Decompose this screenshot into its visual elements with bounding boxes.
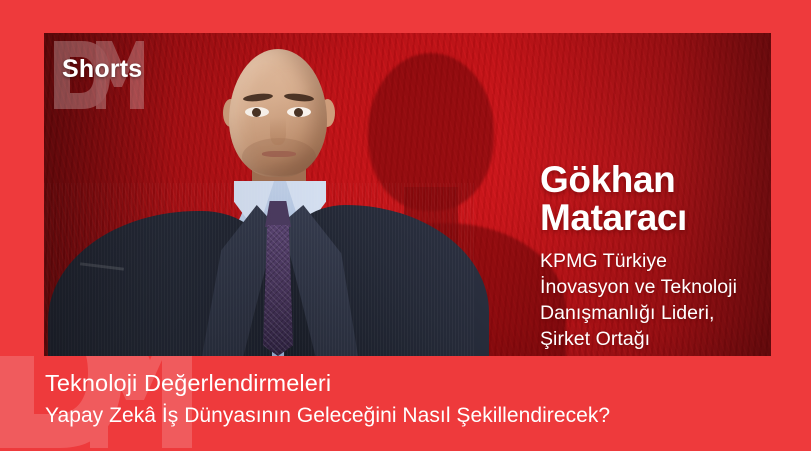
speaker-role-line-4: Şirket Ortağı bbox=[540, 327, 771, 353]
speaker-role-line-3: Danışmanlığı Lideri, bbox=[540, 301, 771, 327]
caption-headline: Yapay Zekâ İş Dünyasının Geleceğini Nası… bbox=[45, 403, 785, 428]
speaker-role-line-1: KPMG Türkiye bbox=[540, 249, 771, 275]
caption-text-block: Teknoloji Değerlendirmeleri Yapay Zekâ İ… bbox=[45, 370, 785, 428]
speaker-role: KPMG Türkiye İnovasyon ve Teknoloji Danı… bbox=[540, 249, 771, 353]
speaker-name-line-2: Mataracı bbox=[540, 199, 771, 237]
shorts-label: Shorts bbox=[62, 55, 142, 84]
caption-band: Teknoloji Değerlendirmeleri Yapay Zekâ İ… bbox=[0, 356, 811, 451]
speaker-name: Gökhan Mataracı bbox=[540, 161, 771, 238]
speaker-name-line-1: Gökhan bbox=[540, 161, 771, 199]
speaker-info-block: Gökhan Mataracı KPMG Türkiye İnovasyon v… bbox=[540, 161, 771, 353]
shorts-badge[interactable]: Shorts bbox=[44, 33, 194, 115]
caption-category: Teknoloji Değerlendirmeleri bbox=[45, 370, 785, 398]
speaker-role-line-2: İnovasyon ve Teknoloji bbox=[540, 275, 771, 301]
video-thumbnail-card: Gökhan Mataracı KPMG Türkiye İnovasyon v… bbox=[0, 0, 811, 451]
